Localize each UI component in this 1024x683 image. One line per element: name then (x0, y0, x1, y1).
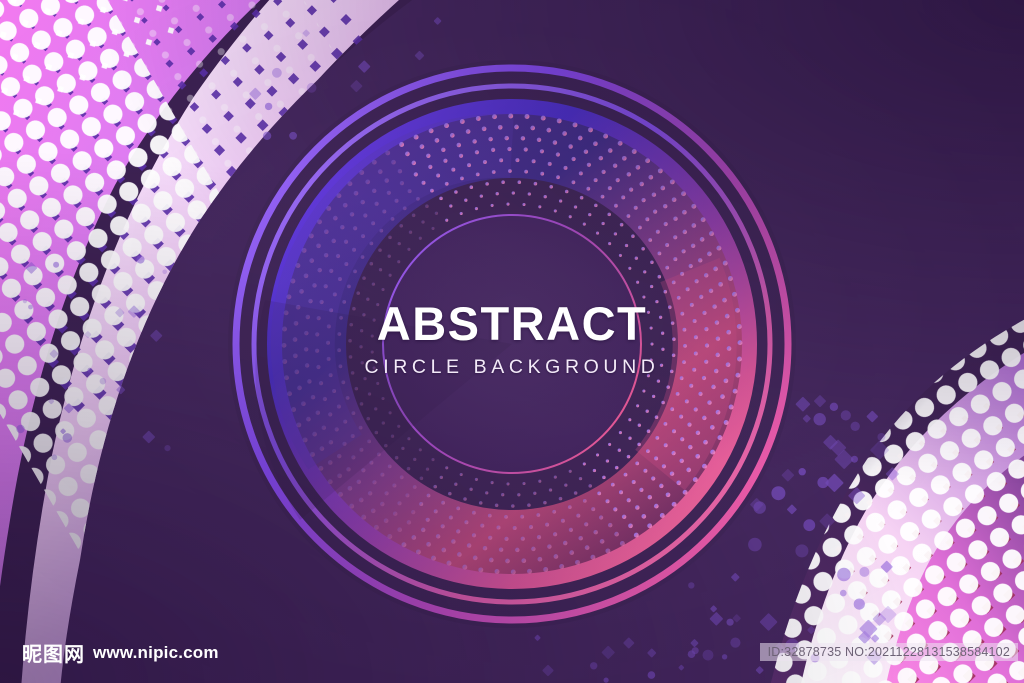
image-canvas: ABSTRACT CIRCLE BACKGROUND 昵图网 www.nipic… (0, 0, 1024, 683)
image-id-label: ID:32878735 NO:20211228131538584102 (760, 643, 1018, 661)
abstract-artwork (0, 0, 1024, 683)
